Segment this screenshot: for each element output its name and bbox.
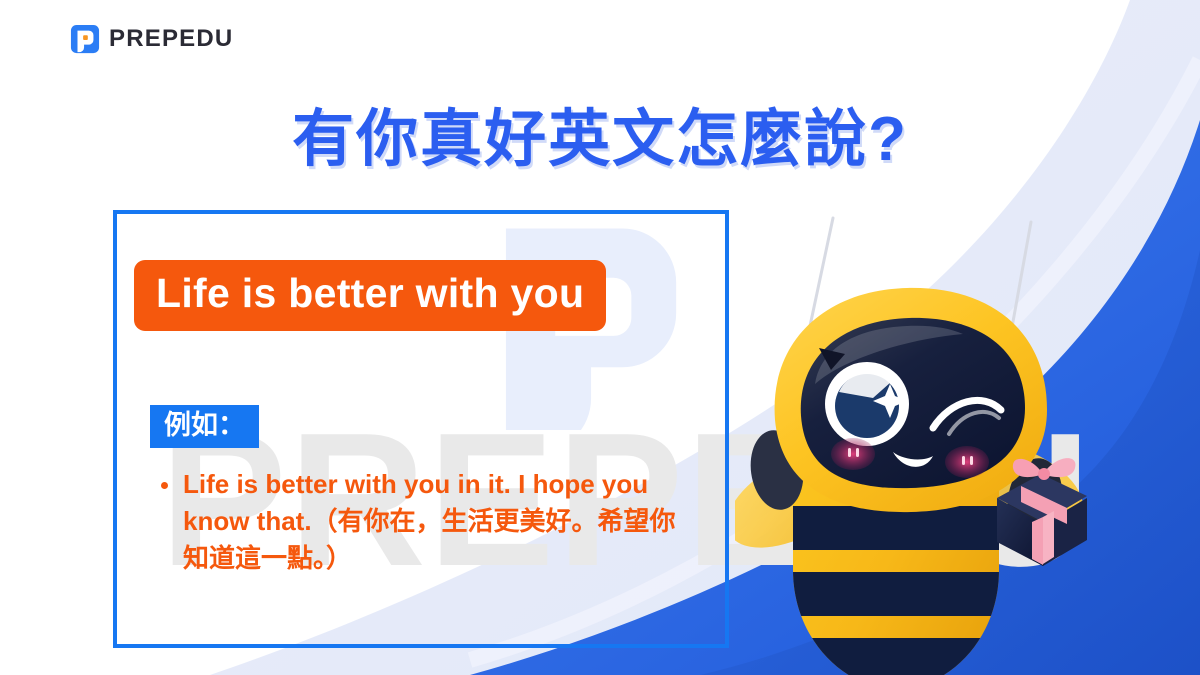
list-item: Life is better with you in it. I hope yo… xyxy=(155,466,695,577)
bee-robot-mascot xyxy=(735,170,1105,675)
robot-head xyxy=(775,288,1047,512)
prepedu-square-mark-icon xyxy=(70,24,100,54)
phrase-text: Life is better with you xyxy=(156,270,584,316)
brand-logo-text: PREPEDU xyxy=(109,25,233,53)
brand-logo[interactable]: PREPEDU xyxy=(70,24,233,54)
example-label-text: 例如： xyxy=(164,410,245,440)
page-title: 有你真好英文怎麼說? xyxy=(0,88,1200,178)
phrase-banner: Life is better with you xyxy=(134,260,606,331)
example-list: Life is better with you in it. I hope yo… xyxy=(155,466,695,577)
content-card: Life is better with you 例如： Life is bett… xyxy=(113,210,729,648)
example-label-badge: 例如： xyxy=(150,405,259,448)
